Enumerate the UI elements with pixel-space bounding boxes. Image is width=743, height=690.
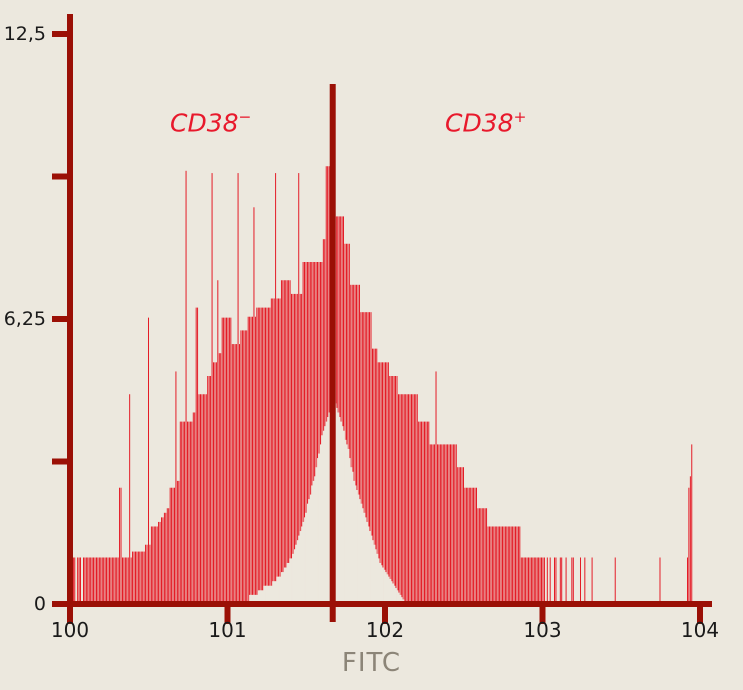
cd38-negative-superscript: − (239, 108, 252, 126)
y-tick-label-6-25: 6,25 (0, 308, 46, 330)
x-tick-label-104: 104 (660, 618, 740, 642)
flow-cytometry-histogram-figure: 12,5 6,25 0 100 101 102 103 104 FITC CD3… (0, 0, 743, 690)
y-tick-label-0: 0 (0, 593, 46, 615)
cd38-positive-text: CD38 (445, 108, 514, 137)
cd38-negative-text: CD38 (170, 108, 239, 137)
x-tick-label-100: 100 (30, 618, 110, 642)
cd38-negative-gate-label: CD38− (170, 108, 252, 137)
gate-line[interactable] (330, 84, 336, 622)
x-tick-label-101: 101 (188, 618, 268, 642)
histogram-bars (73, 166, 692, 604)
x-axis-title: FITC (0, 648, 743, 678)
histogram-plot-area (0, 0, 743, 690)
cd38-positive-superscript: + (514, 108, 527, 126)
x-tick-label-102: 102 (345, 618, 425, 642)
x-tick-label-103: 103 (503, 618, 583, 642)
cd38-positive-gate-label: CD38+ (445, 108, 527, 137)
y-tick-label-12-5: 12,5 (0, 23, 46, 45)
